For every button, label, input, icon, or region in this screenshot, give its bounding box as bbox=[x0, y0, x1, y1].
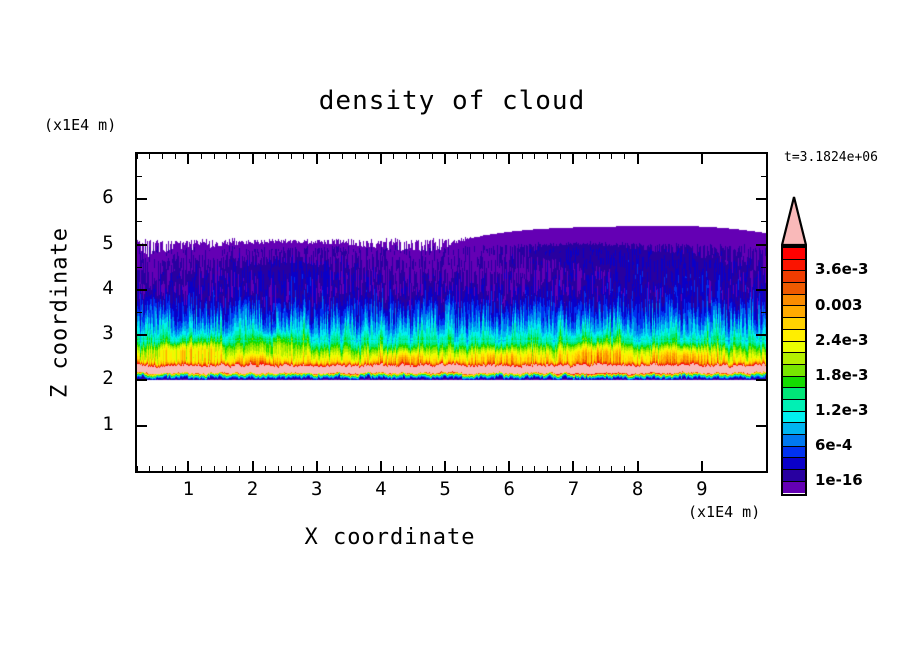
x-tick-label-7: 7 bbox=[553, 478, 593, 500]
tick-mark bbox=[756, 198, 766, 200]
x-tick-label-5: 5 bbox=[425, 478, 465, 500]
tick-mark bbox=[406, 466, 407, 471]
colorbar-band-2 bbox=[783, 271, 805, 283]
tick-mark bbox=[137, 466, 138, 471]
tick-mark bbox=[508, 154, 510, 164]
tick-mark bbox=[368, 466, 369, 471]
colorbar-band-3 bbox=[783, 283, 805, 295]
x-axis-unit-label: (x1E4 m) bbox=[688, 503, 760, 521]
colorbar-band-10 bbox=[783, 365, 805, 377]
colorbar-label-1: 0.003 bbox=[815, 296, 862, 314]
tick-mark bbox=[761, 312, 766, 313]
tick-mark bbox=[291, 154, 292, 159]
tick-mark bbox=[701, 154, 703, 164]
tick-mark bbox=[534, 466, 535, 471]
tick-mark bbox=[419, 154, 420, 159]
tick-mark bbox=[560, 466, 561, 471]
tick-mark bbox=[329, 466, 330, 471]
x-tick-label-6: 6 bbox=[489, 478, 529, 500]
colorbar-label-6: 1e-16 bbox=[815, 471, 863, 489]
tick-mark bbox=[560, 154, 561, 159]
tick-mark bbox=[756, 334, 766, 336]
x-axis-title: X coordinate bbox=[0, 525, 780, 550]
tick-mark bbox=[393, 154, 394, 159]
colorbar-band-7 bbox=[783, 330, 805, 342]
tick-mark bbox=[406, 154, 407, 159]
chart-title: density of cloud bbox=[0, 86, 904, 116]
tick-mark bbox=[761, 176, 766, 177]
timestamp-annotation: t=3.1824e+06 bbox=[784, 150, 878, 165]
tick-mark bbox=[483, 466, 484, 471]
tick-mark bbox=[496, 466, 497, 471]
tick-mark bbox=[137, 425, 147, 427]
tick-mark bbox=[534, 154, 535, 159]
tick-mark bbox=[226, 154, 227, 159]
y-axis-title: Z coordinate bbox=[48, 193, 73, 433]
tick-mark bbox=[701, 461, 703, 471]
tick-mark bbox=[444, 154, 446, 164]
x-tick-label-1: 1 bbox=[168, 478, 208, 500]
tick-mark bbox=[572, 461, 574, 471]
tick-mark bbox=[756, 289, 766, 291]
colorbar-band-1 bbox=[783, 260, 805, 272]
tick-mark bbox=[572, 154, 574, 164]
tick-mark bbox=[547, 466, 548, 471]
tick-mark bbox=[756, 425, 766, 427]
tick-mark bbox=[149, 466, 150, 471]
tick-mark bbox=[611, 466, 612, 471]
tick-mark bbox=[444, 461, 446, 471]
tick-mark bbox=[214, 154, 215, 159]
tick-mark bbox=[252, 154, 254, 164]
tick-mark bbox=[303, 154, 304, 159]
tick-mark bbox=[432, 466, 433, 471]
tick-mark bbox=[624, 154, 625, 159]
tick-mark bbox=[137, 154, 138, 159]
colorbar-band-0 bbox=[783, 248, 805, 260]
tick-mark bbox=[380, 461, 382, 471]
tick-mark bbox=[137, 334, 147, 336]
tick-mark bbox=[380, 154, 382, 164]
tick-mark bbox=[342, 154, 343, 159]
y-tick-label-2: 2 bbox=[91, 367, 125, 389]
tick-mark bbox=[522, 466, 523, 471]
tick-mark bbox=[316, 154, 318, 164]
colorbar-band-11 bbox=[783, 377, 805, 389]
tick-mark bbox=[149, 154, 150, 159]
x-tick-label-9: 9 bbox=[682, 478, 722, 500]
colorbar-band-9 bbox=[783, 353, 805, 365]
tick-mark bbox=[214, 466, 215, 471]
x-tick-label-3: 3 bbox=[297, 478, 337, 500]
tick-mark bbox=[508, 461, 510, 471]
tick-mark bbox=[201, 154, 202, 159]
tick-mark bbox=[252, 461, 254, 471]
colorbar-label-5: 6e-4 bbox=[815, 436, 852, 454]
colorbar-band-15 bbox=[783, 423, 805, 435]
colorbar-label-0: 3.6e-3 bbox=[815, 260, 868, 278]
tick-mark bbox=[137, 379, 147, 381]
tick-mark bbox=[355, 154, 356, 159]
tick-mark bbox=[316, 461, 318, 471]
y-tick-label-3: 3 bbox=[91, 322, 125, 344]
figure-canvas: density of cloud (x1E4 m) (x1E4 m) X coo… bbox=[0, 0, 904, 654]
tick-mark bbox=[756, 244, 766, 246]
y-axis-unit-label: (x1E4 m) bbox=[44, 116, 116, 134]
colorbar-band-5 bbox=[783, 306, 805, 318]
colorbar-band-6 bbox=[783, 318, 805, 330]
tick-mark bbox=[342, 466, 343, 471]
tick-mark bbox=[457, 154, 458, 159]
tick-mark bbox=[187, 154, 189, 164]
tick-mark bbox=[761, 267, 766, 268]
tick-mark bbox=[368, 154, 369, 159]
tick-mark bbox=[162, 154, 163, 159]
tick-mark bbox=[586, 466, 587, 471]
tick-mark bbox=[419, 466, 420, 471]
tick-mark bbox=[329, 154, 330, 159]
tick-mark bbox=[137, 312, 142, 313]
tick-mark bbox=[470, 154, 471, 159]
tick-mark bbox=[162, 466, 163, 471]
x-tick-label-2: 2 bbox=[233, 478, 273, 500]
y-tick-label-5: 5 bbox=[91, 232, 125, 254]
tick-mark bbox=[637, 461, 639, 471]
tick-mark bbox=[175, 466, 176, 471]
plot-area bbox=[135, 152, 768, 473]
tick-mark bbox=[457, 466, 458, 471]
tick-mark bbox=[265, 466, 266, 471]
colorbar-band-19 bbox=[783, 470, 805, 482]
colorbar-band-13 bbox=[783, 400, 805, 412]
tick-mark bbox=[756, 379, 766, 381]
tick-mark bbox=[637, 154, 639, 164]
tick-mark bbox=[175, 154, 176, 159]
tick-mark bbox=[187, 461, 189, 471]
x-tick-label-4: 4 bbox=[361, 478, 401, 500]
colorbar-band-16 bbox=[783, 435, 805, 447]
tick-mark bbox=[547, 154, 548, 159]
colorbar-band-20 bbox=[783, 482, 805, 494]
colorbar-arrow-outline bbox=[781, 196, 807, 246]
tick-mark bbox=[470, 466, 471, 471]
tick-mark bbox=[599, 154, 600, 159]
tick-mark bbox=[291, 466, 292, 471]
tick-mark bbox=[624, 466, 625, 471]
tick-mark bbox=[278, 466, 279, 471]
tick-mark bbox=[265, 154, 266, 159]
y-tick-label-6: 6 bbox=[91, 186, 125, 208]
colorbar-band-17 bbox=[783, 447, 805, 459]
tick-mark bbox=[599, 466, 600, 471]
tick-mark bbox=[226, 466, 227, 471]
colorbar-band-14 bbox=[783, 412, 805, 424]
colorbar-label-2: 2.4e-3 bbox=[815, 331, 868, 349]
tick-mark bbox=[611, 154, 612, 159]
tick-mark bbox=[239, 466, 240, 471]
colorbar-bands bbox=[781, 246, 807, 496]
tick-mark bbox=[137, 267, 142, 268]
tick-mark bbox=[278, 154, 279, 159]
colorbar-label-4: 1.2e-3 bbox=[815, 401, 868, 419]
x-tick-label-8: 8 bbox=[618, 478, 658, 500]
y-tick-label-1: 1 bbox=[91, 413, 125, 435]
tick-mark bbox=[355, 466, 356, 471]
contour-field bbox=[137, 154, 766, 471]
tick-mark bbox=[137, 244, 147, 246]
tick-mark bbox=[393, 466, 394, 471]
y-tick-label-4: 4 bbox=[91, 277, 125, 299]
tick-mark bbox=[496, 154, 497, 159]
colorbar-band-18 bbox=[783, 458, 805, 470]
colorbar-band-4 bbox=[783, 295, 805, 307]
colorbar-label-3: 1.8e-3 bbox=[815, 366, 868, 384]
tick-mark bbox=[137, 198, 147, 200]
tick-mark bbox=[303, 466, 304, 471]
tick-mark bbox=[201, 466, 202, 471]
tick-mark bbox=[432, 154, 433, 159]
tick-mark bbox=[137, 289, 147, 291]
tick-mark bbox=[586, 154, 587, 159]
tick-mark bbox=[761, 221, 766, 222]
tick-mark bbox=[522, 154, 523, 159]
tick-mark bbox=[239, 154, 240, 159]
tick-mark bbox=[137, 221, 142, 222]
colorbar-band-12 bbox=[783, 388, 805, 400]
tick-mark bbox=[137, 176, 142, 177]
colorbar-band-8 bbox=[783, 342, 805, 354]
tick-mark bbox=[483, 154, 484, 159]
